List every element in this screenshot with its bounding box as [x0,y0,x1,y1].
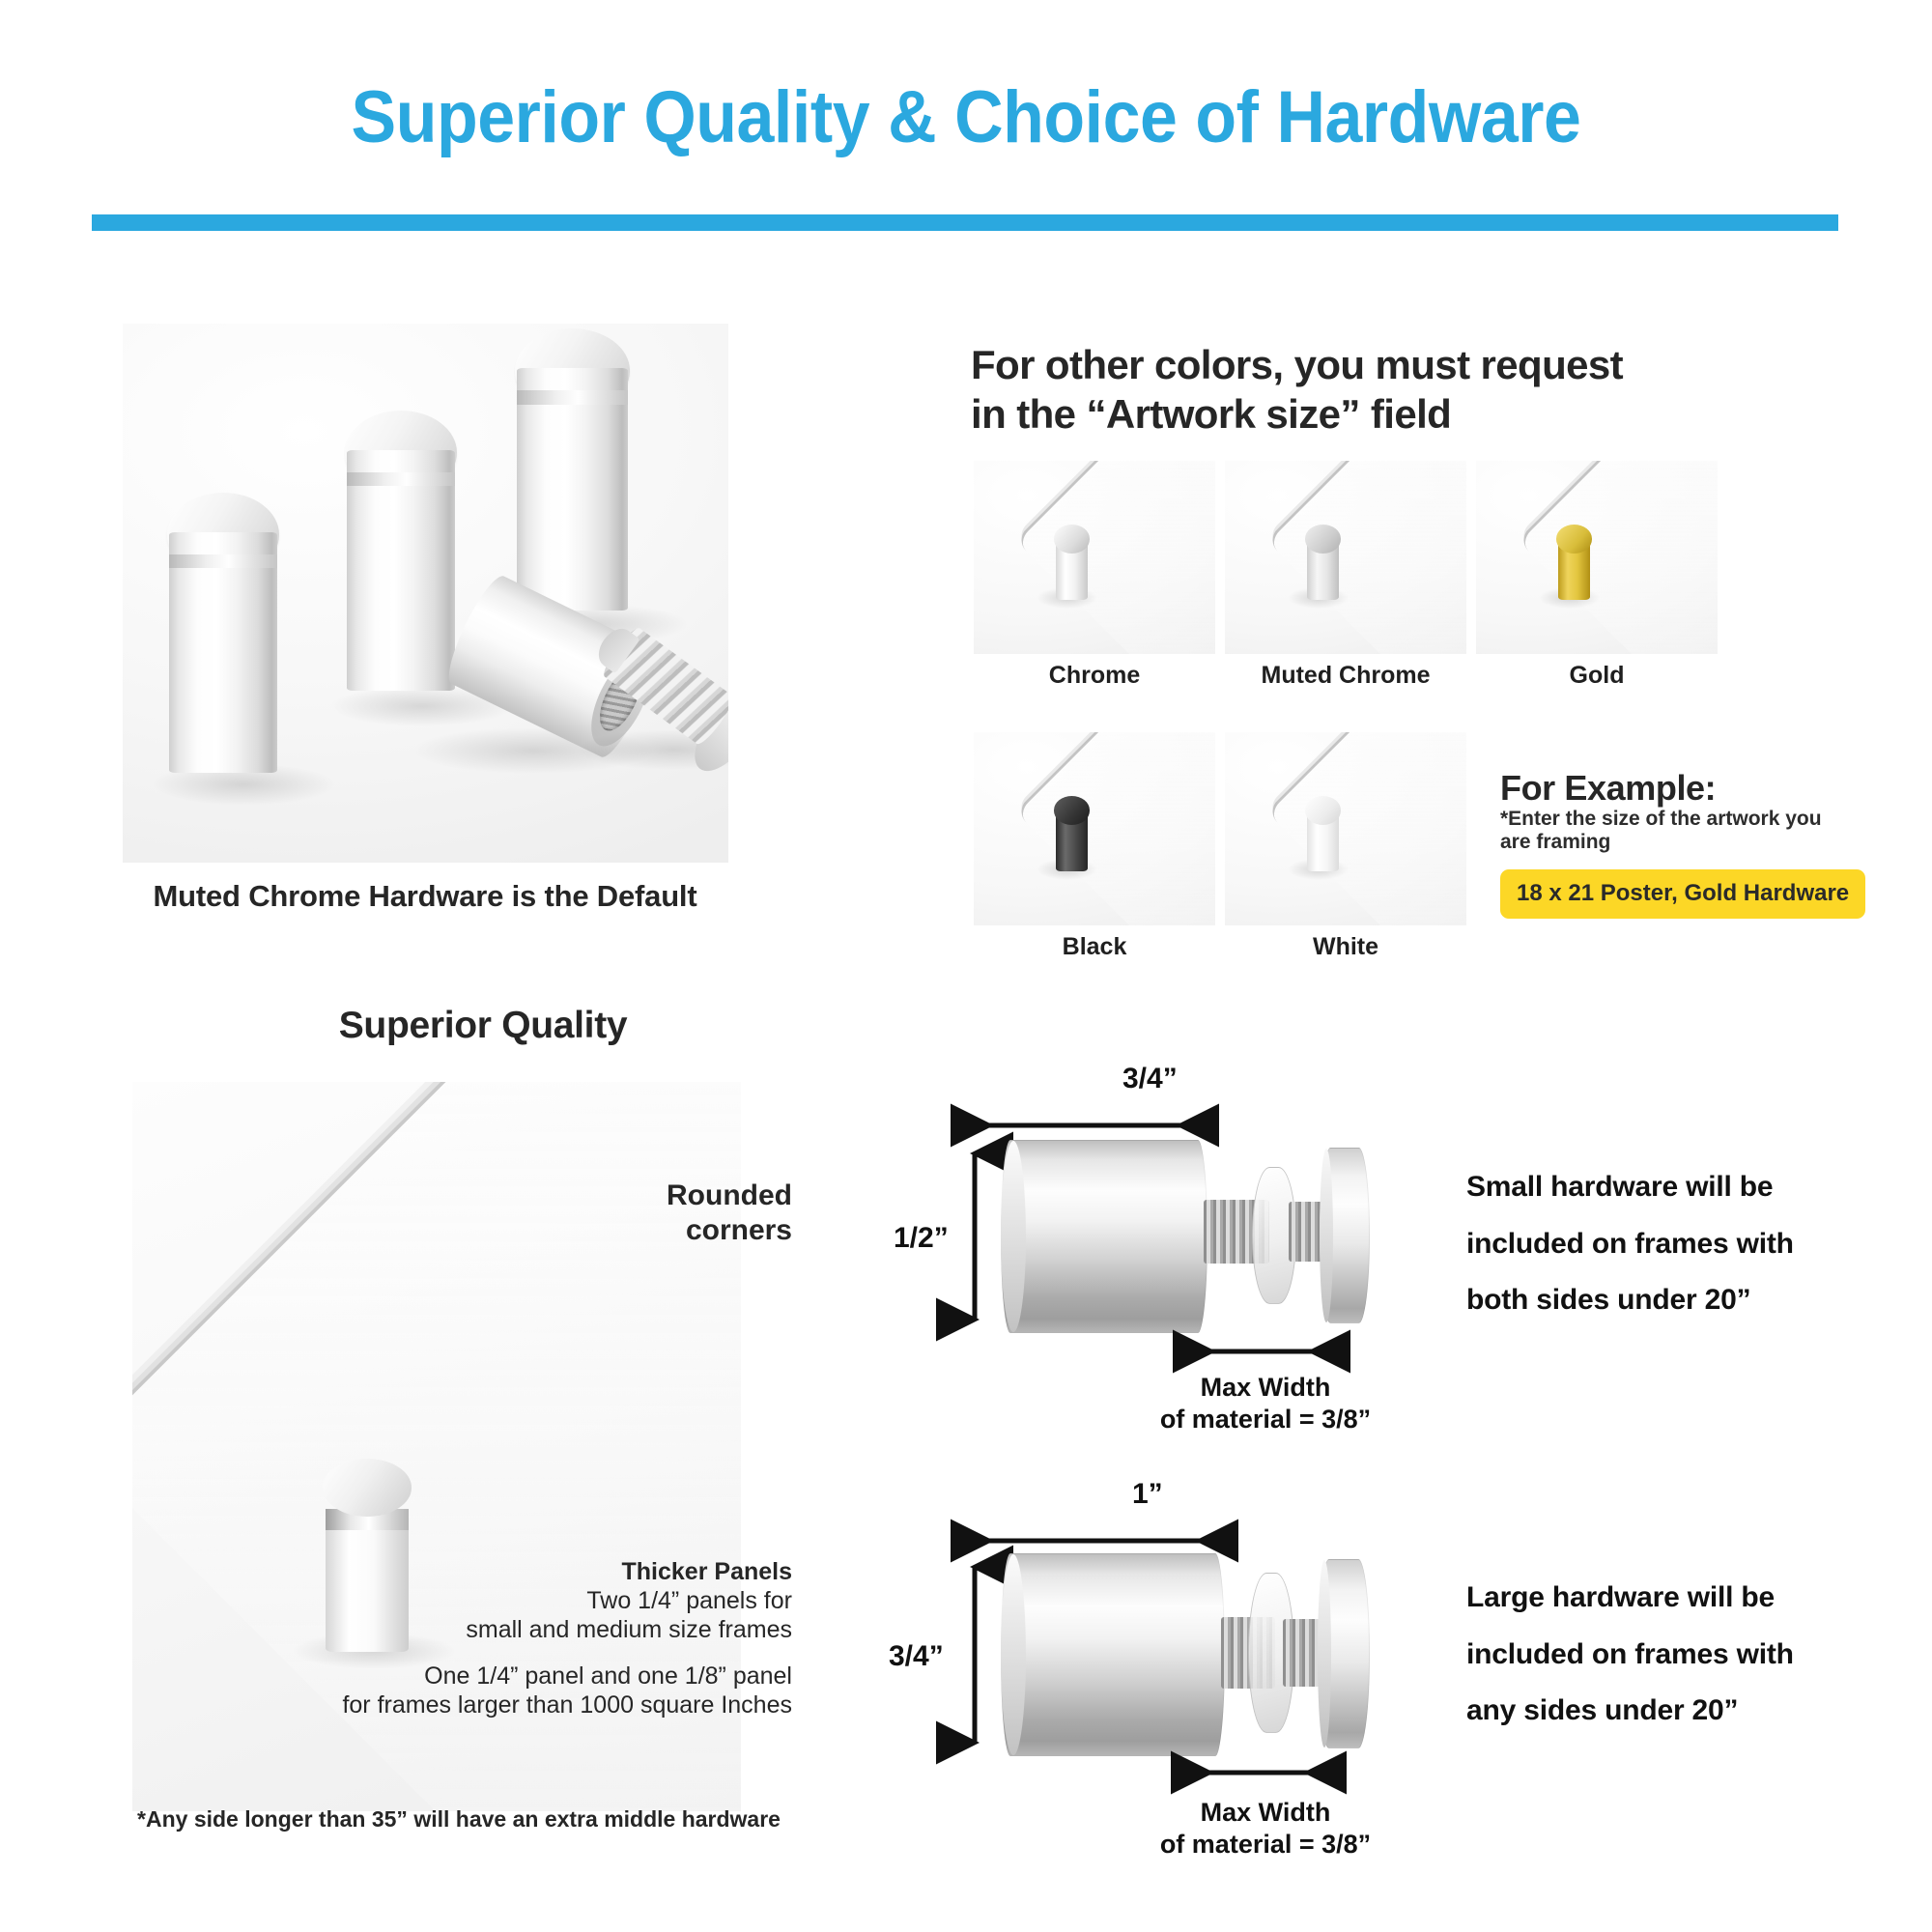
standoff-ring [169,554,277,569]
large-max-width-line2: of material = 3/8” [1101,1829,1430,1861]
standoff-barrel [1001,1553,1225,1756]
panel-footnote: *Any side longer than 35” will have an e… [106,1806,811,1833]
small-height-arrow [962,1140,987,1333]
hero-caption: Muted Chrome Hardware is the Default [87,879,763,914]
small-max-width-line2: of material = 3/8” [1101,1404,1430,1435]
thicker-panels-line4: for frames larger than 1000 square Inche… [280,1690,792,1719]
standoff-post [1558,525,1590,600]
rounded-corners-note: Rounded corners [580,1179,792,1248]
superior-quality-heading: Superior Quality [174,1005,792,1047]
infographic-page: Superior Quality & Choice of Hardware [0,0,1932,1932]
acrylic-sheet-corner [1266,461,1466,654]
large-width-dim-label: 1” [1132,1478,1163,1511]
swatch-chrome[interactable]: Chrome [974,461,1215,654]
thicker-panels-line2: small and medium size frames [280,1615,792,1644]
small-hardware-desc-line3: both sides under 20” [1466,1272,1872,1329]
large-height-dim-label: 3/4” [889,1640,944,1673]
post-cap [1305,796,1342,825]
standoff-barrel [1001,1140,1207,1333]
small-max-width-arrow [1198,1339,1333,1364]
small-hardware-desc-line2: included on frames with [1466,1216,1872,1273]
acrylic-sheet-corner [1015,461,1215,654]
swatch-gold[interactable]: Gold [1476,461,1718,654]
large-max-width-label: Max Width of material = 3/8” [1101,1797,1430,1861]
small-standoff-drawing [993,1140,1379,1333]
standoff-barrel-left [169,493,277,773]
large-hardware-description: Large hardware will be included on frame… [1466,1570,1872,1740]
post-cap [323,1459,412,1517]
large-hardware-diagram: 1” 3/4” [976,1478,1517,1893]
standoff-ring [347,472,455,487]
large-standoff-drawing [993,1553,1379,1756]
swatch-muted-chrome[interactable]: Muted Chrome [1225,461,1466,654]
barrel-end-face [1001,1554,1026,1755]
small-max-width-line1: Max Width [1101,1372,1430,1404]
rounded-corners-line2: corners [580,1213,792,1248]
example-badge[interactable]: 18 x 21 Poster, Gold Hardware [1500,869,1865,919]
page-title: Superior Quality & Choice of Hardware [161,75,1770,159]
head-cap-face [1318,1560,1331,1747]
swatch-photo [974,461,1215,654]
swatch-label: Black [974,933,1215,961]
thicker-panels-title: Thicker Panels [280,1557,792,1586]
for-example-note: *Enter the size of the artwork you are f… [1500,808,1848,855]
small-width-dim-label: 3/4” [1122,1063,1178,1095]
standoff-post [1307,525,1339,600]
post-cap [1556,525,1593,554]
large-hardware-desc-line2: included on frames with [1466,1627,1872,1684]
large-width-arrow [976,1528,1362,1553]
swatch-label: Chrome [974,662,1215,690]
barrel-end-face [1001,1141,1026,1332]
swatch-label: White [1225,933,1466,961]
small-max-width-label: Max Width of material = 3/8” [1101,1372,1430,1435]
for-example-title: For Example: [1500,768,1716,809]
swatch-photo [1225,461,1466,654]
small-height-dim-label: 1/2” [894,1222,949,1255]
standoff-post [1307,796,1339,871]
large-hardware-desc-line1: Large hardware will be [1466,1570,1872,1627]
post-cap [1054,796,1091,825]
small-hardware-desc-line1: Small hardware will be [1466,1159,1872,1216]
swatch-white[interactable]: White [1225,732,1466,925]
large-max-width-arrow [1196,1760,1331,1785]
acrylic-sheet-corner [1266,732,1466,925]
swatch-label: Muted Chrome [1225,662,1466,690]
rounded-corners-line1: Rounded [580,1179,792,1213]
standoff-head-cap [1320,1148,1370,1323]
small-hardware-diagram: 3/4” 1/2” [976,1063,1517,1468]
standoff-ring [517,390,628,405]
swatch-photo [1225,732,1466,925]
hero-hardware-photo [123,324,728,863]
other-colors-heading-line1: For other colors, you must request [971,340,1840,389]
thicker-panels-line3: One 1/4” panel and one 1/8” panel [280,1662,792,1690]
spacer [280,1644,792,1662]
small-hardware-description: Small hardware will be included on frame… [1466,1159,1872,1329]
other-colors-heading: For other colors, you must request in th… [971,340,1840,439]
thicker-panels-note: Thicker Panels Two 1/4” panels for small… [280,1557,792,1719]
title-underline-rule [92,214,1838,231]
standoff-head-cap [1318,1559,1370,1748]
large-height-arrow [962,1553,987,1756]
post-cap [1054,525,1091,554]
standoff-post [1056,796,1088,871]
head-cap-face [1320,1149,1333,1322]
post-cap [1305,525,1342,554]
large-max-width-line1: Max Width [1101,1797,1430,1829]
thicker-panels-line1: Two 1/4” panels for [280,1586,792,1615]
large-hardware-desc-line3: any sides under 20” [1466,1683,1872,1740]
standoff-barrel-right [517,328,628,611]
standoff-post [1056,525,1088,600]
swatch-black[interactable]: Black [974,732,1215,925]
swatch-label: Gold [1476,662,1718,690]
acrylic-sheet-corner [1015,732,1215,925]
standoff-barrel-middle [347,411,455,691]
small-width-arrow [976,1113,1362,1138]
swatch-photo [1476,461,1718,654]
swatch-photo [974,732,1215,925]
other-colors-heading-line2: in the “Artwork size” field [971,389,1840,439]
acrylic-sheet-corner [1518,461,1718,654]
